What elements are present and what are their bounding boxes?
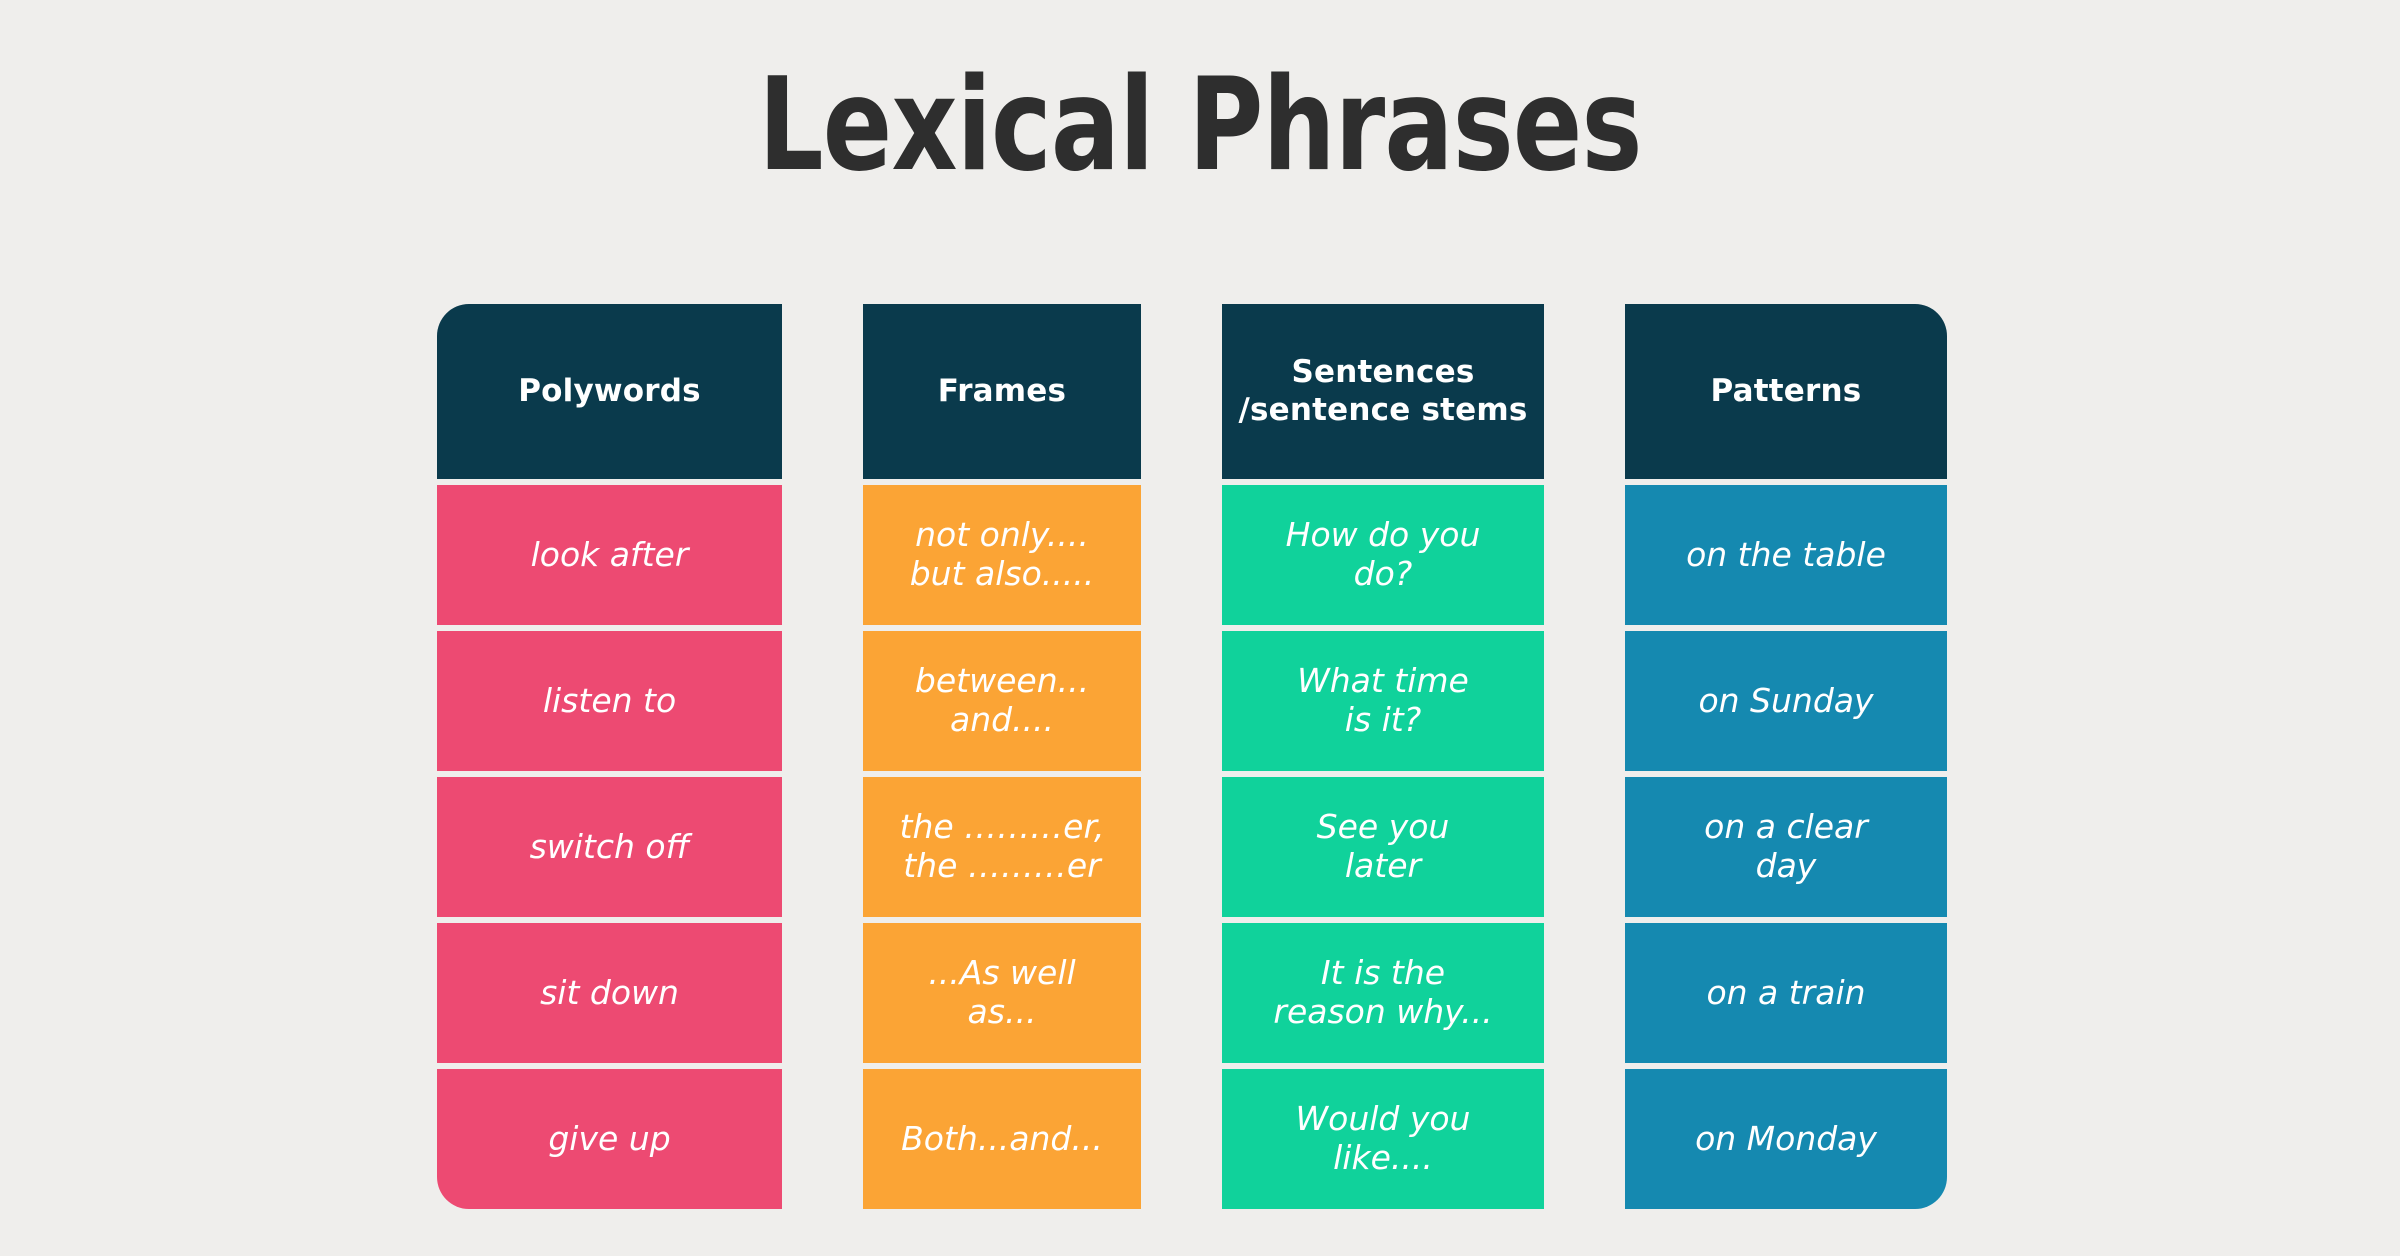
phrase-line: sit down bbox=[540, 974, 679, 1013]
column-header-frames: Frames bbox=[863, 304, 1141, 479]
column-header-sentences: Sentences /sentence stems bbox=[1222, 304, 1544, 479]
phrase-cell: listen to bbox=[437, 631, 782, 771]
phrase-line: is it? bbox=[1297, 701, 1469, 740]
column-header-patterns: Patterns bbox=[1625, 304, 1947, 479]
column-header-line: /sentence stems bbox=[1238, 392, 1527, 430]
phrase-line: on Monday bbox=[1695, 1120, 1877, 1159]
phrase-cell: It is the reason why... bbox=[1222, 923, 1544, 1063]
column-header-line: Polywords bbox=[518, 373, 701, 411]
phrase-line: on the table bbox=[1686, 536, 1886, 575]
phrase-line: What time bbox=[1297, 662, 1469, 701]
phrase-cell: on a train bbox=[1625, 923, 1947, 1063]
column-header-line: Sentences bbox=[1238, 354, 1527, 392]
phrase-cell: on a clear day bbox=[1625, 777, 1947, 917]
phrase-line: on a train bbox=[1706, 974, 1865, 1013]
phrase-cell: give up bbox=[437, 1069, 782, 1209]
phrase-line: between... bbox=[915, 662, 1089, 701]
phrase-line: switch off bbox=[530, 828, 690, 867]
phrase-line: It is the bbox=[1273, 954, 1492, 993]
phrase-cell: How do you do? bbox=[1222, 485, 1544, 625]
phrase-line: as... bbox=[928, 993, 1075, 1032]
phrase-line: How do you bbox=[1286, 516, 1481, 555]
phrase-cell: See you later bbox=[1222, 777, 1544, 917]
phrase-cell: on Sunday bbox=[1625, 631, 1947, 771]
phrase-cell: on the table bbox=[1625, 485, 1947, 625]
phrase-line: on Sunday bbox=[1698, 682, 1873, 721]
phrase-cell: on Monday bbox=[1625, 1069, 1947, 1209]
phrase-line: on a clear bbox=[1704, 808, 1868, 847]
phrase-line: later bbox=[1317, 847, 1450, 886]
infographic-root: Lexical Phrases Polywords look after lis… bbox=[0, 0, 2400, 1256]
column-header-polywords: Polywords bbox=[437, 304, 782, 479]
phrase-cell: Would you like.... bbox=[1222, 1069, 1544, 1209]
phrase-cell: ...As well as... bbox=[863, 923, 1141, 1063]
column-header-line: Frames bbox=[938, 373, 1066, 411]
phrase-line: give up bbox=[548, 1120, 670, 1159]
phrase-cell: between... and.... bbox=[863, 631, 1141, 771]
phrase-line: not only.... bbox=[910, 516, 1095, 555]
phrase-line: look after bbox=[531, 536, 689, 575]
phrase-line: the ………er, bbox=[900, 808, 1105, 847]
category-columns: Polywords look after listen to switch of… bbox=[437, 304, 1967, 1209]
phrase-cell: What time is it? bbox=[1222, 631, 1544, 771]
phrase-line: listen to bbox=[543, 682, 676, 721]
column-patterns: Patterns on the table on Sunday on a cle… bbox=[1625, 304, 1947, 1209]
phrase-line: ...As well bbox=[928, 954, 1075, 993]
column-sentences: Sentences /sentence stems How do you do?… bbox=[1222, 304, 1544, 1209]
phrase-cell: switch off bbox=[437, 777, 782, 917]
phrase-line: Would you bbox=[1296, 1100, 1471, 1139]
page-title: Lexical Phrases bbox=[240, 62, 2160, 190]
phrase-line: like.... bbox=[1296, 1139, 1471, 1178]
phrase-line: but also..... bbox=[910, 555, 1095, 594]
column-header-line: Patterns bbox=[1711, 373, 1862, 411]
phrase-cell: not only.... but also..... bbox=[863, 485, 1141, 625]
column-polywords: Polywords look after listen to switch of… bbox=[437, 304, 782, 1209]
phrase-cell: sit down bbox=[437, 923, 782, 1063]
phrase-line: reason why... bbox=[1273, 993, 1492, 1032]
phrase-line: See you bbox=[1317, 808, 1450, 847]
phrase-line: day bbox=[1704, 847, 1868, 886]
phrase-cell: Both...and... bbox=[863, 1069, 1141, 1209]
phrase-line: Both...and... bbox=[901, 1120, 1103, 1159]
phrase-cell: look after bbox=[437, 485, 782, 625]
phrase-cell: the ………er, the ………er bbox=[863, 777, 1141, 917]
phrase-line: do? bbox=[1286, 555, 1481, 594]
column-frames: Frames not only.... but also..... betwee… bbox=[863, 304, 1141, 1209]
phrase-line: and.... bbox=[915, 701, 1089, 740]
phrase-line: the ………er bbox=[900, 847, 1105, 886]
